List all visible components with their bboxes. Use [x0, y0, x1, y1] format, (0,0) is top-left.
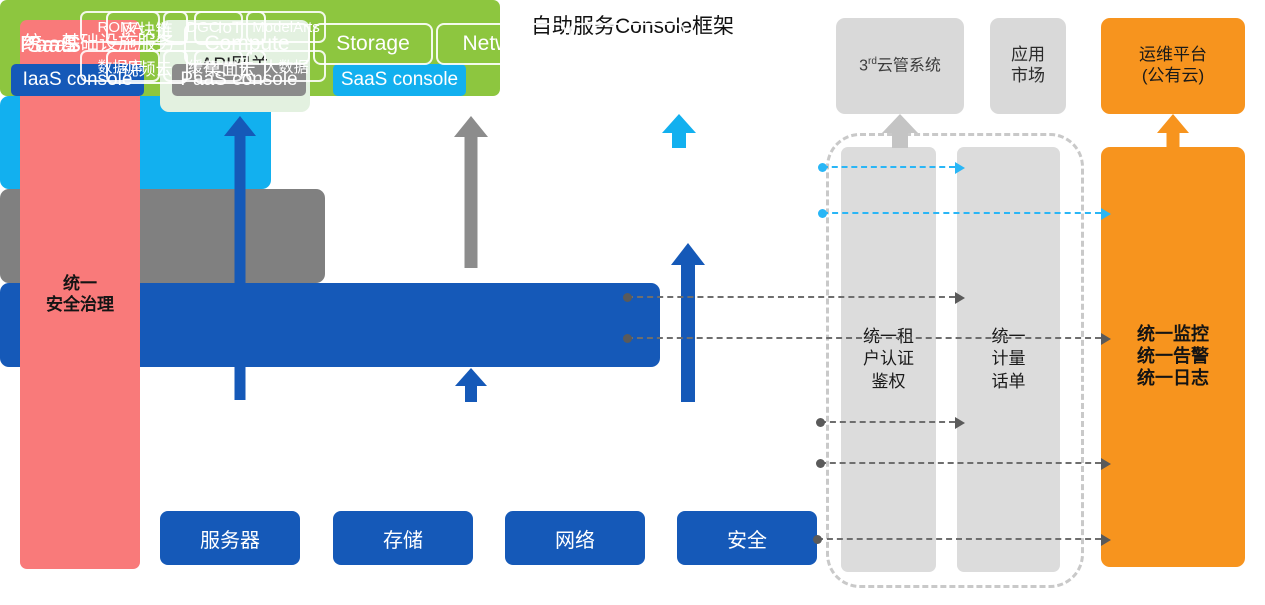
dashed-saas-to-auth	[822, 166, 955, 168]
metering-billing-column: 统一 计量 话单	[957, 147, 1060, 572]
app-market-box: 应用 市场	[990, 18, 1066, 114]
arrow-saas-to-saas-console	[662, 114, 696, 148]
diagram-canvas: 统一 安全治理 API网关 自助服务Console框架 IaaS console…	[0, 0, 1265, 605]
third-party-cloud-mgmt-box: 3rd云管系统	[836, 18, 964, 114]
resource-box-network[interactable]: 网络	[505, 511, 645, 565]
dashed-paas-to-ops	[627, 337, 1101, 339]
dashed-saas-to-ops	[822, 212, 1101, 214]
unified-ops-panel: 统一监控 统一告警 统一日志	[1101, 147, 1245, 567]
infra-chip-storage[interactable]: Storage	[313, 23, 433, 65]
dashed-paas-to-auth	[627, 296, 955, 298]
dashed-infra-to-auth	[820, 421, 955, 423]
infra-chip-cce[interactable]: CCE	[569, 23, 685, 65]
arrow-paas-to-console	[454, 116, 488, 268]
connector-dot	[623, 293, 632, 302]
connector-dot	[816, 418, 825, 427]
arrowhead-icon	[1101, 534, 1111, 546]
tenant-auth-column: 统一租 户认证 鉴权	[841, 147, 936, 572]
infrastructure-label: 统一基础设施服务	[14, 28, 184, 55]
arrow-infra-to-api-gateway	[224, 116, 256, 400]
arrowhead-icon	[1101, 458, 1111, 470]
saas-console-chip[interactable]: SaaS console	[333, 64, 466, 96]
connector-dot	[813, 535, 822, 544]
security-governance-panel: 统一 安全治理	[20, 20, 140, 569]
connector-dot	[816, 459, 825, 468]
arrow-ops-to-platform	[1157, 114, 1189, 148]
arrow-infra-to-paas	[455, 368, 487, 402]
dashed-infra-to-ops	[820, 462, 1101, 464]
third-party-ordinal: rd	[868, 56, 877, 67]
arrowhead-icon	[1101, 333, 1111, 345]
arrowhead-icon	[955, 417, 965, 429]
arrowhead-icon	[955, 292, 965, 304]
arrow-shared-to-third-party	[882, 114, 918, 148]
resource-box-server[interactable]: 服务器	[160, 511, 300, 565]
third-party-suffix: 云管系统	[877, 57, 941, 74]
connector-dot	[623, 334, 632, 343]
third-party-prefix: 3	[859, 57, 868, 74]
arrowhead-icon	[1101, 208, 1111, 220]
resource-box-security[interactable]: 安全	[677, 511, 817, 565]
infra-chip-compute[interactable]: Compute	[184, 23, 310, 65]
ops-platform-header-box: 运维平台 (公有云)	[1101, 18, 1245, 114]
connector-dot	[818, 209, 827, 218]
arrowhead-icon	[955, 162, 965, 174]
arrow-infra-to-saas	[671, 243, 705, 402]
third-party-label: 3rd云管系统	[859, 56, 941, 76]
connector-dot	[818, 163, 827, 172]
infra-chip-network[interactable]: Network	[436, 23, 566, 65]
resource-box-storage[interactable]: 存储	[333, 511, 473, 565]
dashed-security-to-ops	[817, 538, 1101, 540]
